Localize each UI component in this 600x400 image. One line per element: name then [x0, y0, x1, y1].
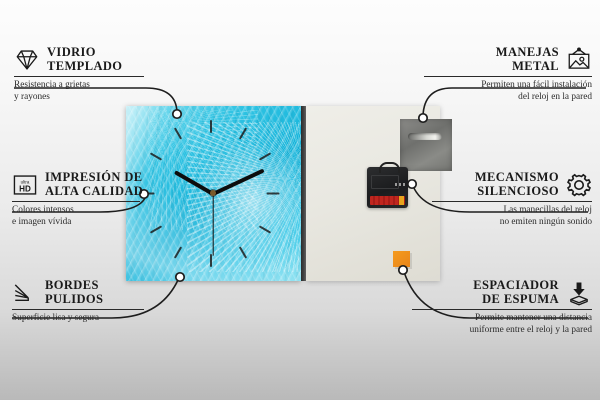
feature-subtitle: Colores intensos e imagen vívida	[12, 205, 172, 228]
feature-subtitle: Las manecillas del reloj no emiten ningú…	[432, 205, 592, 228]
feature-silent-mechanism: MECANISMO SILENCIOSO Las manecillas del …	[432, 171, 592, 228]
ultra-hd-icon: ultra HD	[12, 172, 38, 198]
feature-subtitle: Permiten una fácil instalación del reloj…	[424, 80, 592, 103]
press-down-foam-icon	[566, 280, 592, 306]
feature-high-quality-print: ultra HD IMPRESIÓN DE ALTA CALIDAD Color…	[12, 171, 172, 228]
feature-metal-handles: MANEJAS METAL Permiten una fácil instala…	[424, 46, 592, 103]
svg-text:HD: HD	[19, 184, 31, 193]
feature-header: MANEJAS METAL	[424, 46, 592, 73]
feature-divider	[412, 309, 592, 310]
feature-foam-spacer: ESPACIADOR DE ESPUMA Permite mantener un…	[412, 279, 592, 336]
gear-icon	[566, 172, 592, 198]
feature-tempered-glass: VIDRIO TEMPLADO Resistencia a grietas y …	[14, 46, 164, 103]
feature-title: MECANISMO SILENCIOSO	[432, 171, 559, 198]
feature-divider	[432, 201, 592, 202]
picture-frame-hanging-icon	[566, 47, 592, 73]
connector-dot-metal-handles	[419, 114, 427, 122]
feature-subtitle: Resistencia a grietas y rayones	[14, 80, 164, 103]
feature-divider	[14, 76, 144, 77]
feature-header: ESPACIADOR DE ESPUMA	[412, 279, 592, 306]
connector-dot-silent-mechanism	[408, 180, 416, 188]
infographic-canvas: VIDRIO TEMPLADO Resistencia a grietas y …	[0, 0, 600, 400]
feature-header: VIDRIO TEMPLADO	[14, 46, 164, 73]
polished-edges-icon	[12, 280, 38, 306]
feature-header: ultra HD IMPRESIÓN DE ALTA CALIDAD	[12, 171, 172, 198]
feature-header: BORDES PULIDOS	[12, 279, 172, 306]
connector-dot-tempered-glass	[173, 110, 181, 118]
feature-title: IMPRESIÓN DE ALTA CALIDAD	[45, 171, 143, 198]
feature-title: MANEJAS METAL	[424, 46, 559, 73]
diamond-icon	[14, 47, 40, 73]
feature-polished-edges: BORDES PULIDOS Superficie lisa y segura	[12, 279, 172, 325]
feature-title: VIDRIO TEMPLADO	[47, 46, 122, 73]
connector-dot-foam-spacer	[399, 266, 407, 274]
feature-title: ESPACIADOR DE ESPUMA	[412, 279, 559, 306]
feature-title: BORDES PULIDOS	[45, 279, 103, 306]
feature-divider	[12, 201, 140, 202]
feature-divider	[12, 309, 144, 310]
feature-header: MECANISMO SILENCIOSO	[432, 171, 592, 198]
connector-dot-polished-edges	[176, 273, 184, 281]
feature-divider	[424, 76, 592, 77]
feature-subtitle: Superficie lisa y segura	[12, 313, 172, 325]
svg-text:ultra: ultra	[21, 179, 30, 184]
feature-subtitle: Permite mantener una distancia uniforme …	[412, 313, 592, 336]
